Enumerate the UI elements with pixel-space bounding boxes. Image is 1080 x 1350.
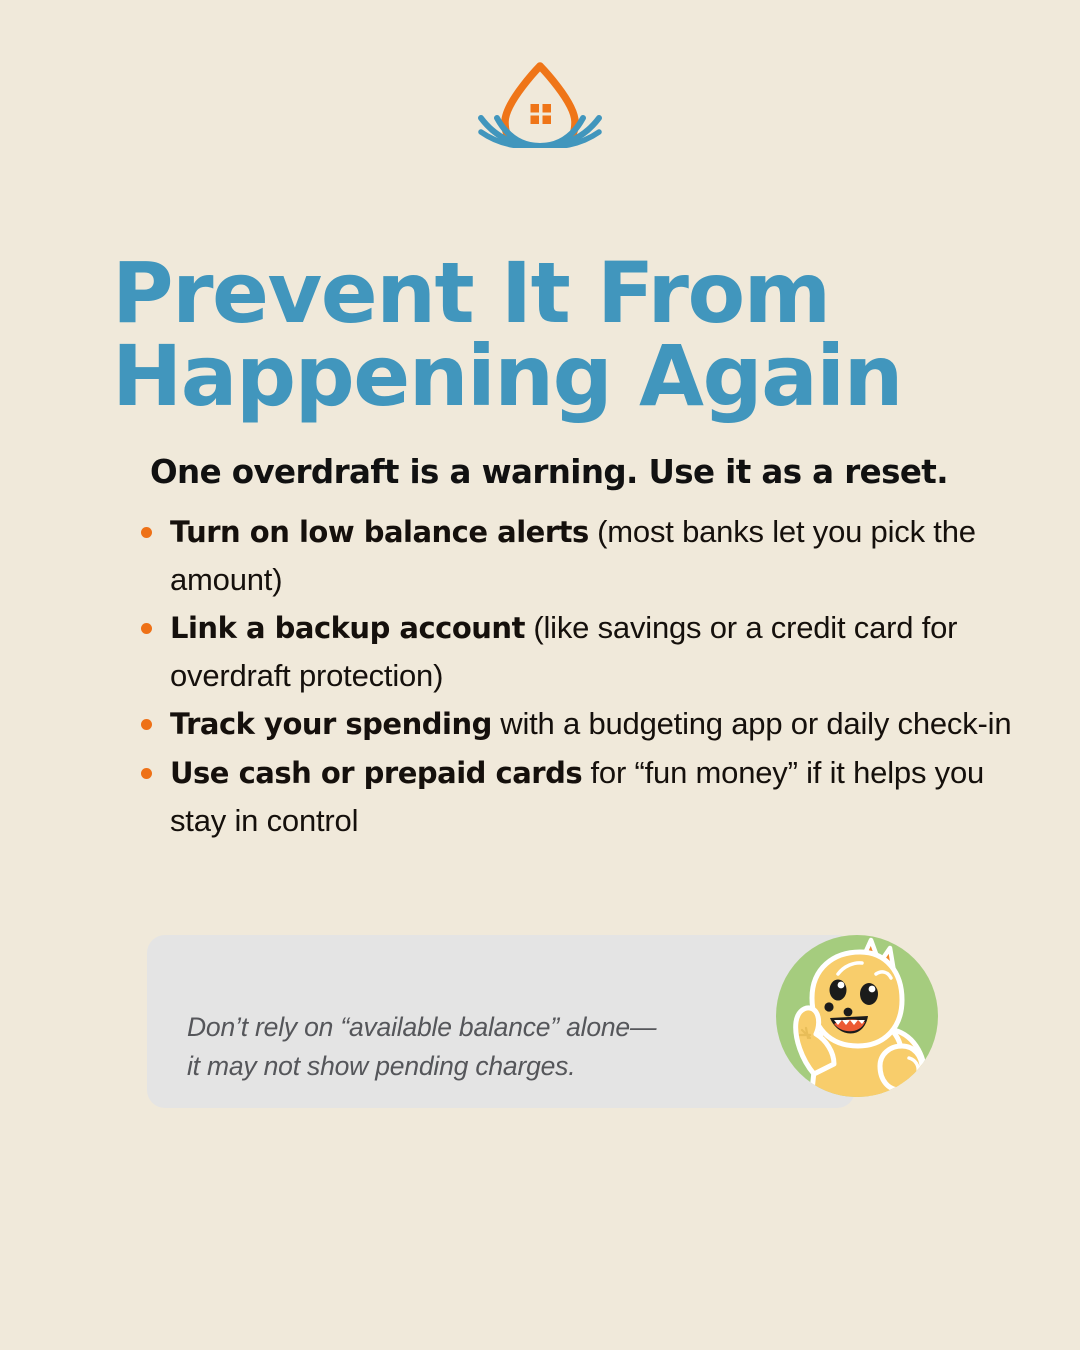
list-item-body: with a budgeting app or daily check-in (492, 706, 1012, 741)
list-item: Turn on low balance alerts (most banks l… (136, 508, 1016, 603)
page-title: Prevent It From Happening Again (112, 252, 992, 417)
list-item: Track your spending with a budgeting app… (136, 700, 1016, 748)
bullet-dot-icon (141, 719, 152, 730)
list-item: Link a backup account (like savings or a… (136, 604, 1016, 699)
list-item-lead: Link a backup account (170, 611, 525, 645)
bullet-dot-icon (141, 623, 152, 634)
list-item: Use cash or prepaid cards for “fun money… (136, 749, 1016, 844)
bullet-dot-icon (141, 768, 152, 779)
poster-canvas: Prevent It From Happening Again One over… (0, 0, 1080, 1350)
bullet-dot-icon (141, 527, 152, 538)
page-subtitle: One overdraft is a warning. Use it as a … (150, 455, 1030, 491)
list-item-lead: Use cash or prepaid cards (170, 756, 582, 790)
house-water-drop-logo-icon (475, 56, 605, 148)
dinosaur-mascot-pointing-up-icon (776, 934, 938, 1100)
brand-logo (0, 56, 1080, 148)
callout-text: Don’t rely on “available balance” alone—… (187, 1008, 757, 1086)
mascot-avatar (776, 934, 938, 1100)
tips-list: Turn on low balance alerts (most banks l… (136, 508, 1016, 845)
list-item-lead: Turn on low balance alerts (170, 515, 589, 549)
callout-card: Don’t rely on “available balance” alone—… (147, 935, 855, 1108)
list-item-lead: Track your spending (170, 707, 492, 741)
